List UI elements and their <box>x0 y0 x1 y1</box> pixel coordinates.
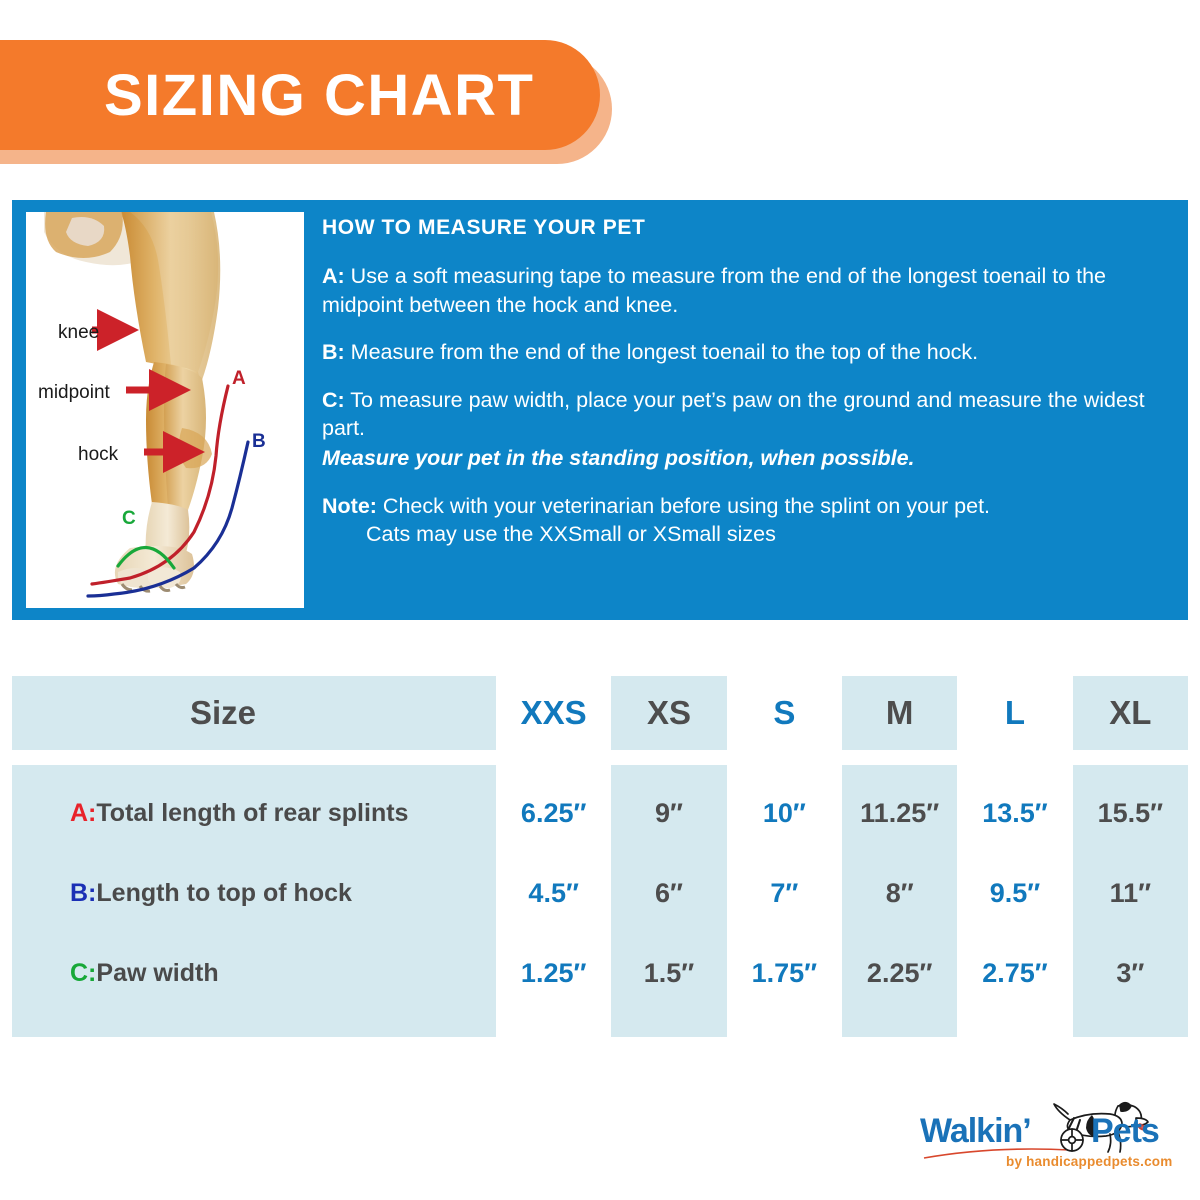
logo-wordmark-pets: Pets <box>1091 1112 1159 1151</box>
dog-leg-diagram-image: A B C knee midpoint hock <box>26 212 304 608</box>
instruction-a-key: A: <box>322 264 345 288</box>
diagram-letter-b: B <box>252 431 266 452</box>
table-header-xl: XL <box>1073 676 1188 750</box>
table-row-label-c: C: Paw width <box>12 934 496 1012</box>
table-cell: 7″ <box>727 854 842 932</box>
brand-logo: Walkin’ Pets by handicappe <box>920 1104 1186 1180</box>
row-name: Length to top of hock <box>96 879 352 908</box>
diagram-label-knee: knee <box>58 322 99 343</box>
size-table: SizeXXSXSSMLXLA: Total length of rear sp… <box>12 676 1188 1038</box>
table-cell: 11.25″ <box>842 774 957 852</box>
instruction-c-text: To measure paw width, place your pet’s p… <box>322 388 1145 441</box>
row-key: A: <box>70 799 96 828</box>
instruction-note-text: Check with your veterinarian before usin… <box>377 494 990 518</box>
row-name: Total length of rear splints <box>96 799 408 828</box>
row-key: B: <box>70 879 96 908</box>
logo-tagline: by handicappedpets.com <box>1006 1154 1172 1169</box>
table-cell: 10″ <box>727 774 842 852</box>
instruction-a: A: Use a soft measuring tape to measure … <box>322 262 1174 319</box>
table-row-label-a: A: Total length of rear splints <box>12 774 496 852</box>
table-cell: 11″ <box>1073 854 1188 932</box>
table-header-l: L <box>957 676 1072 750</box>
instruction-b-text: Measure from the end of the longest toen… <box>345 340 978 364</box>
table-header-size: Size <box>12 676 496 750</box>
instructions-heading: HOW TO MEASURE YOUR PET <box>322 216 1174 240</box>
instruction-note-indent: Cats may use the XXSmall or XSmall sizes <box>322 520 1174 549</box>
instruction-c-key: C: <box>322 388 345 412</box>
leg-diagram-card: A B C knee midpoint hock <box>26 212 304 608</box>
table-header-m: M <box>842 676 957 750</box>
diagram-letter-c: C <box>122 508 136 529</box>
instruction-note: Note: Check with your veterinarian befor… <box>322 492 1174 549</box>
instruction-note-key: Note: <box>322 494 377 518</box>
table-cell: 13.5″ <box>957 774 1072 852</box>
table-cell: 9.5″ <box>957 854 1072 932</box>
diagram-label-midpoint: midpoint <box>38 382 111 403</box>
table-cell: 6.25″ <box>496 774 611 852</box>
how-to-measure-panel: A B C knee midpoint hock HOW TO MEASURE … <box>12 200 1188 620</box>
table-cell: 1.25″ <box>496 934 611 1012</box>
header-banner: SIZING CHART <box>0 40 612 150</box>
instruction-b: B: Measure from the end of the longest t… <box>322 338 1174 367</box>
banner-body: SIZING CHART <box>0 40 600 150</box>
instruction-c: C: To measure paw width, place your pet’… <box>322 386 1174 473</box>
page-title: SIZING CHART <box>104 62 534 129</box>
table-header-xxs: XXS <box>496 676 611 750</box>
table-header-s: S <box>727 676 842 750</box>
table-cell: 1.75″ <box>727 934 842 1012</box>
table-cell: 2.75″ <box>957 934 1072 1012</box>
diagram-letter-a: A <box>232 368 246 389</box>
instructions-block: HOW TO MEASURE YOUR PET A: Use a soft me… <box>322 214 1174 608</box>
row-key: C: <box>70 959 96 988</box>
table-header-xs: XS <box>611 676 726 750</box>
table-cell: 1.5″ <box>611 934 726 1012</box>
instruction-b-key: B: <box>322 340 345 364</box>
table-cell: 2.25″ <box>842 934 957 1012</box>
table-row-label-b: B: Length to top of hock <box>12 854 496 932</box>
table-cell: 3″ <box>1073 934 1188 1012</box>
table-cell: 9″ <box>611 774 726 852</box>
logo-wordmark-walkin: Walkin’ <box>920 1112 1031 1151</box>
table-cell: 4.5″ <box>496 854 611 932</box>
instruction-c-emphasis: Measure your pet in the standing positio… <box>322 444 1174 473</box>
table-cell: 6″ <box>611 854 726 932</box>
instruction-a-text: Use a soft measuring tape to measure fro… <box>322 264 1106 317</box>
diagram-label-hock: hock <box>78 444 119 465</box>
table-cell: 8″ <box>842 854 957 932</box>
table-cell: 15.5″ <box>1073 774 1188 852</box>
row-name: Paw width <box>96 959 218 988</box>
